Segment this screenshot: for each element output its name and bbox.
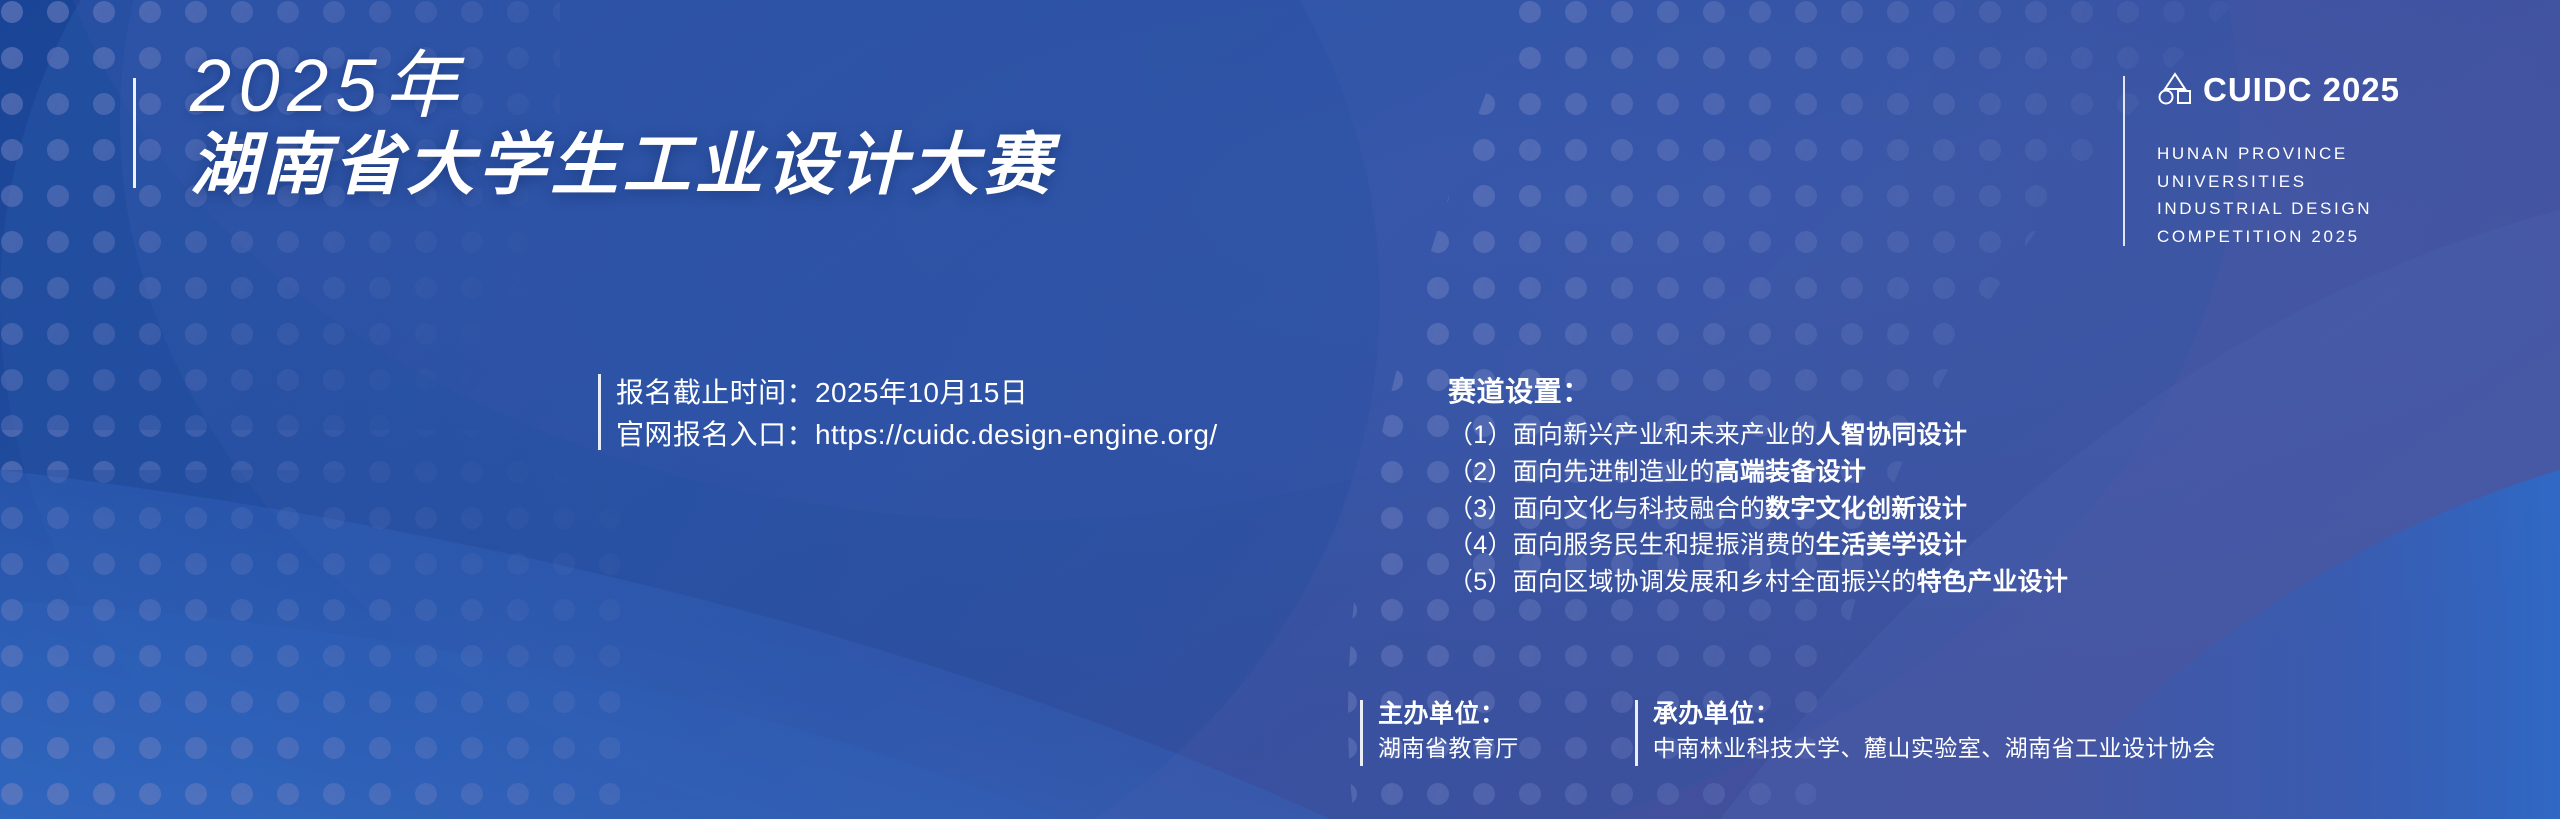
title-year: 2025年 [190,48,1055,123]
track-number: （1） [1448,421,1513,449]
organizer-divider [1360,700,1363,766]
track-lead: 面向服务民生和提振消费的 [1513,531,1816,559]
brand-block: CUIDC 2025 HUNAN PROVINCE UNIVERSITIES I… [2123,72,2400,250]
organizer-undertaker-label: 承办单位： [1653,698,2216,732]
deadline-line: 报名截止时间：2025年10月15日 [616,372,1218,414]
track-lead: 面向新兴产业和未来产业的 [1513,421,1816,449]
track-item: （4）面向服务民生和提振消费的生活美学设计 [1448,527,2068,564]
track-emphasis: 数字文化创新设计 [1765,495,1967,523]
deadline-label: 报名截止时间： [616,377,815,408]
track-lead: 面向区域协调发展和乡村全面振兴的 [1513,568,1917,596]
track-emphasis: 高端装备设计 [1715,458,1867,486]
brand-en-line-4: COMPETITION 2025 [2157,223,2400,251]
registration-url-label: 官网报名入口： [616,419,815,450]
organizer-undertaker: 承办单位： 中南林业科技大学、麓山实验室、湖南省工业设计协会 [1635,698,2216,764]
registration-divider [598,374,601,450]
page-title: 2025年 湖南省大学生工业设计大赛 [190,48,1055,203]
track-number: （2） [1448,458,1513,486]
brand-en-line-3: INDUSTRIAL DESIGN [2157,195,2400,223]
cuidc-logo-icon [2157,72,2193,106]
brand-en-line-2: UNIVERSITIES [2157,168,2400,196]
organizer-host-label: 主办单位： [1378,698,1519,732]
tracks-heading: 赛道设置： [1448,370,2068,410]
deadline-value: 2025年10月15日 [815,377,1028,408]
event-poster-banner: 2025年 湖南省大学生工业设计大赛 CUIDC 2025 HUNAN PROV… [0,0,2560,819]
track-number: （3） [1448,495,1513,523]
registration-info: 报名截止时间：2025年10月15日 官网报名入口：https://cuidc.… [598,372,1218,456]
track-item: （2）面向先进制造业的高端装备设计 [1448,454,2068,491]
title-accent-bar [133,78,136,188]
brand-english-lines: HUNAN PROVINCE UNIVERSITIES INDUSTRIAL D… [2157,140,2400,250]
organizer-host: 主办单位： 湖南省教育厅 [1360,698,1519,764]
track-emphasis: 生活美学设计 [1816,531,1968,559]
brand-en-line-1: HUNAN PROVINCE [2157,140,2400,168]
track-item: （3）面向文化与科技融合的数字文化创新设计 [1448,491,2068,528]
track-number: （5） [1448,568,1513,596]
track-number: （4） [1448,531,1513,559]
organizer-host-value: 湖南省教育厅 [1378,732,1519,765]
track-item: （1）面向新兴产业和未来产业的人智协同设计 [1448,417,2068,454]
organizer-divider [1635,700,1638,766]
registration-url-link[interactable]: https://cuidc.design-engine.org/ [815,419,1218,450]
track-lead: 面向文化与科技融合的 [1513,495,1766,523]
brand-wordmark-row: CUIDC 2025 [2157,72,2400,106]
tracks-section: 赛道设置： （1）面向新兴产业和未来产业的人智协同设计 （2）面向先进制造业的高… [1448,370,2068,601]
track-item: （5）面向区域协调发展和乡村全面振兴的特色产业设计 [1448,564,2068,601]
registration-url-line: 官网报名入口：https://cuidc.design-engine.org/ [616,414,1218,456]
dot-pattern-left-bottom [0,420,650,819]
track-emphasis: 特色产业设计 [1917,568,2069,596]
track-lead: 面向先进制造业的 [1513,458,1715,486]
title-main: 湖南省大学生工业设计大赛 [190,129,1055,202]
organizer-undertaker-value: 中南林业科技大学、麓山实验室、湖南省工业设计协会 [1653,732,2216,765]
brand-divider [2123,76,2125,246]
brand-wordmark: CUIDC 2025 [2203,73,2400,106]
track-emphasis: 人智协同设计 [1816,421,1968,449]
organizers-section: 主办单位： 湖南省教育厅 承办单位： 中南林业科技大学、麓山实验室、湖南省工业设… [1360,698,2216,764]
